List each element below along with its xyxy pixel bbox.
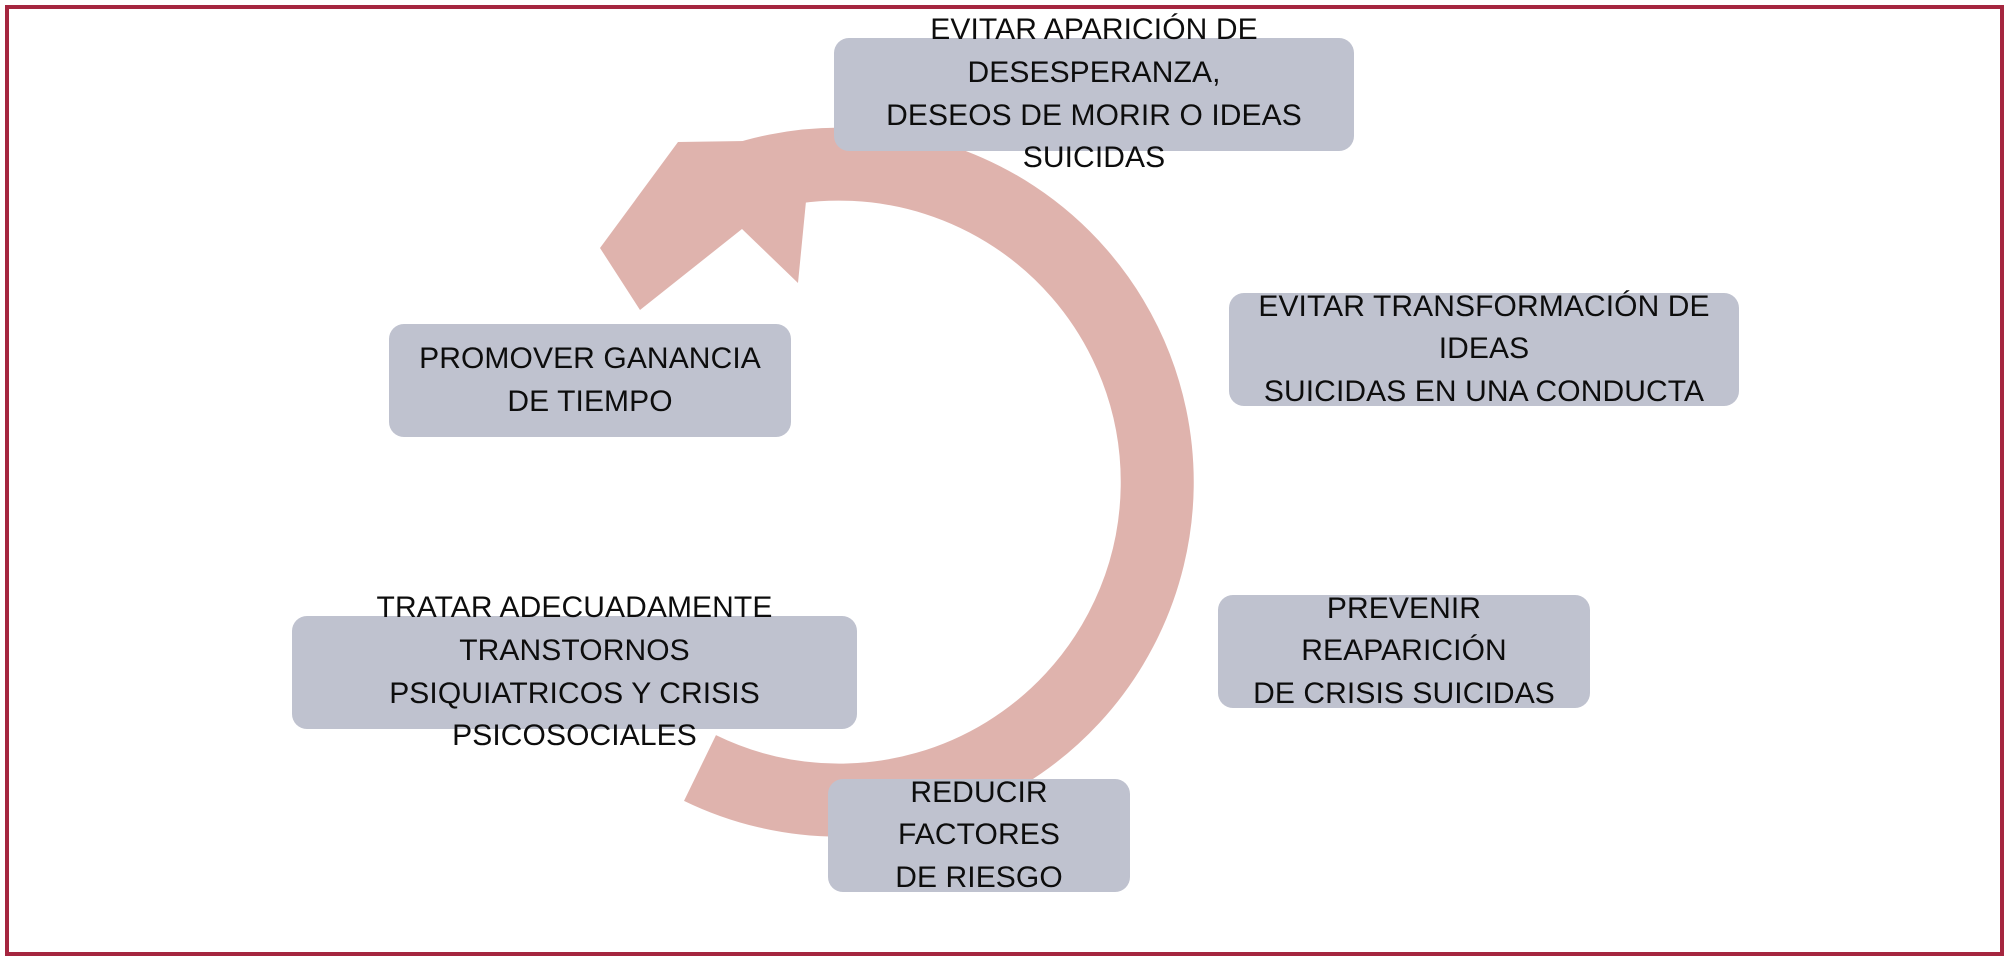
diagram-canvas: EVITAR APARICIÓN DE DESESPERANZA, DESEOS… [0, 0, 2009, 961]
cycle-node-evitar-transformacion[interactable]: EVITAR TRANSFORMACIÓN DE IDEAS SUICIDAS … [1229, 293, 1739, 406]
cycle-node-reducir-factores[interactable]: REDUCIR FACTORES DE RIESGO [828, 779, 1130, 892]
cycle-node-evitar-aparicion[interactable]: EVITAR APARICIÓN DE DESESPERANZA, DESEOS… [834, 38, 1354, 151]
cycle-node-prevenir-reaparicion[interactable]: PREVENIR REAPARICIÓN DE CRISIS SUICIDAS [1218, 595, 1590, 708]
arrow-head-icon [600, 140, 812, 310]
cycle-node-promover-ganancia[interactable]: PROMOVER GANANCIA DE TIEMPO [389, 324, 791, 437]
cycle-node-tratar-transtornos[interactable]: TRATAR ADECUADAMENTE TRANSTORNOS PSIQUIA… [292, 616, 857, 729]
